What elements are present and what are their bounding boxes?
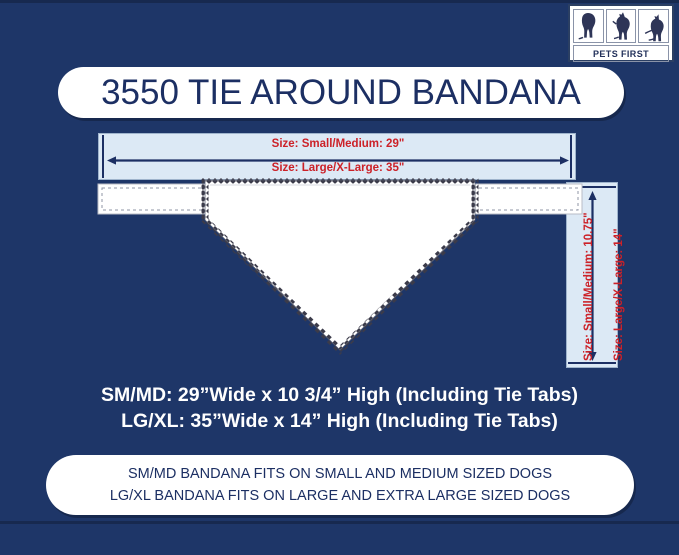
height-label-large-xlarge: Size: Large/X-Large: 14" (613, 228, 625, 361)
dimension-line-lg-xl: LG/XL: 35”Wide x 14” High (Including Tie… (0, 408, 679, 434)
fit-information-panel: SM/MD BANDANA FITS ON SMALL AND MEDIUM S… (46, 455, 634, 515)
top-border (0, 0, 679, 3)
page-title: 3550 TIE AROUND BANDANA (58, 67, 624, 118)
page-title-text: 3550 TIE AROUND BANDANA (101, 73, 581, 113)
product-size-chart: PETS FIRST 3550 TIE AROUND BANDANA Size:… (0, 0, 679, 555)
dog-sitting-silhouette-icon (573, 9, 604, 43)
bandana-body (205, 180, 475, 350)
bottom-border (0, 521, 679, 524)
logo-dog-panel (573, 9, 669, 43)
width-label-large-xlarge: Size: Large/X-Large: 35" (99, 162, 577, 174)
fit-line-sm-md: SM/MD BANDANA FITS ON SMALL AND MEDIUM S… (128, 463, 552, 485)
dog-standing-silhouette-icon (638, 9, 669, 43)
fit-line-lg-xl: LG/XL BANDANA FITS ON LARGE AND EXTRA LA… (110, 485, 570, 507)
brand-logo: PETS FIRST (568, 4, 674, 62)
width-measurement-panel: Size: Small/Medium: 29" Size: Large/X-La… (98, 133, 576, 180)
width-label-small-medium: Size: Small/Medium: 29" (99, 138, 577, 150)
dimension-text-block: SM/MD: 29”Wide x 10 3/4” High (Including… (0, 382, 679, 434)
bandana-illustration (92, 178, 588, 356)
logo-brand-text: PETS FIRST (573, 45, 669, 62)
dog-begging-silhouette-icon (606, 9, 637, 43)
dimension-line-sm-md: SM/MD: 29”Wide x 10 3/4” High (Including… (0, 382, 679, 408)
